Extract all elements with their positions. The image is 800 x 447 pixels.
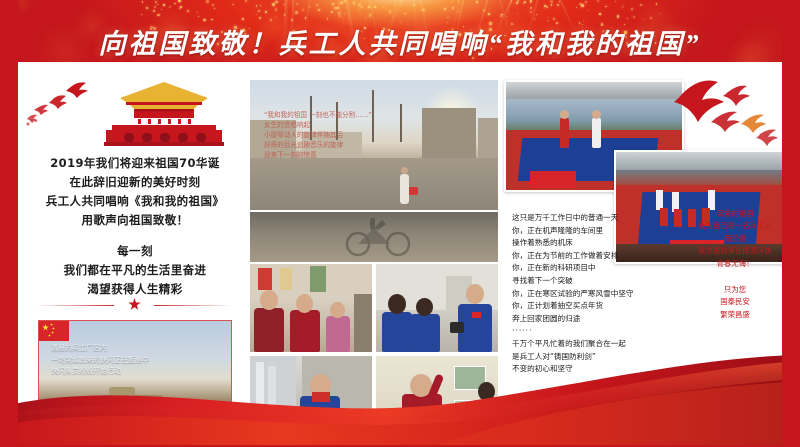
left-column: 2019年我们将迎来祖国70华诞 在此辞旧迎新的美好时刻 兵工人共同唱响《我和我…: [18, 62, 248, 447]
poem-ellipsis: ······: [512, 326, 532, 335]
lead-line-4: 用歌声向祖国致敬！: [81, 213, 188, 227]
hoodie-line-2: 祖国: [402, 420, 442, 426]
lead-line-2: 在此辞旧迎新的美好时刻: [70, 175, 201, 189]
photo-bike-shadow: [250, 212, 498, 262]
poem-line-1: 这只是万千工作日中的普通一天: [512, 213, 618, 222]
dedication-line-5: 青春无悔！: [717, 259, 754, 268]
poem-line-13: 不变的初心和坚守: [512, 364, 573, 373]
poster-root: 向祖国致敬！兵工人共同唱响“我和我的祖国”: [0, 0, 800, 447]
vehicle-graphic: [101, 395, 163, 415]
hoodie-line-1: 我和我的: [402, 412, 442, 418]
star-icon: [128, 298, 141, 311]
overlay-line-3: 快闪队员纷纷开始行动: [51, 367, 121, 375]
dedication-line-4: 我为国防事业挥洒汗水: [698, 246, 772, 255]
photo-elderly-group: [250, 264, 372, 352]
dedication-line-3: 而骄傲: [724, 234, 746, 243]
intro-text-block: 2019年我们将迎来祖国70华诞 在此辞旧迎新的美好时刻 兵工人共同唱响《我和我…: [22, 154, 248, 299]
photo-man-reading: [250, 356, 372, 447]
poster-body: 2019年我们将迎来祖国70华诞 在此辞旧迎新的美好时刻 兵工人共同唱响《我和我…: [18, 62, 782, 447]
doves-right-icon: [672, 72, 782, 152]
poem-line-7: 你，正在寒区试验的严寒风雪中坚守: [512, 289, 634, 298]
poem-line-12: 是兵工人对“铸国防利剑”: [512, 352, 596, 361]
divider-line-left: [36, 305, 114, 306]
dedication-line-6: 只为您: [724, 285, 746, 294]
hall-ceiling: [506, 82, 682, 99]
photo-grid: 我和我的 祖国: [250, 264, 498, 447]
dedication-line-8: 繁荣昌盛: [720, 310, 750, 319]
poem-line-4: 你，正在为节前的工作做着安排: [512, 251, 618, 260]
dedication-wish-block: 只为您 国泰民安 繁荣昌盛: [688, 284, 782, 321]
bike-line-3: 小提琴动人的旋律伴随其后: [264, 131, 343, 139]
center-column: “我和我的祖国 一刻也不能分割……” 女生的沧唱响起 小提琴动人的旋律伴随其后 …: [250, 62, 500, 447]
divider-line-right: [154, 305, 232, 306]
bike-shadow-graphic: [342, 216, 416, 258]
photo-factory-morning: 清晨的兵工厂区内 一场突如其来的快闪正在酝酿中 快闪队员纷纷开始行动: [38, 320, 232, 434]
lead-line-6: 我们都在平凡的生活里奋进: [64, 263, 207, 277]
poem-line-6: 寻找着下一个突破: [512, 276, 573, 285]
cyclist-figure: [400, 174, 409, 204]
photo-overlay-caption: 清晨的兵工厂区内 一场突如其来的快闪正在酝酿中 快闪队员纷纷开始行动: [51, 343, 221, 378]
poster-header: 向祖国致敬！兵工人共同唱响“我和我的祖国”: [0, 0, 800, 62]
floor-flag: [530, 171, 576, 188]
overlay-line-2: 一场突如其来的快闪正在酝酿中: [51, 356, 149, 364]
poem-line-11: 千万个平凡忙着的我们聚合在一起: [512, 339, 626, 348]
dedication-line-1: 亲爱的祖国: [717, 209, 754, 218]
overlay-line-1: 清晨的兵工厂区内: [51, 344, 107, 352]
poem-line-2: 你，正在机声隆隆的车间里: [512, 226, 603, 235]
bike-line-4: 好奇的目光追随音乐的旋律: [264, 141, 343, 149]
lead-line-3: 兵工人共同唱响《我和我的祖国》: [46, 194, 225, 208]
lead-line-7: 渴望获得人生精彩: [87, 282, 182, 296]
photo-two-workers: [376, 264, 498, 352]
border-left: [0, 0, 18, 447]
poem-line-9: 奔上回家团圆的归途: [512, 314, 580, 323]
photo-girl-on-bike: “我和我的祖国 一刻也不能分割……” 女生的沧唱响起 小提琴动人的旋律伴随其后 …: [250, 80, 498, 210]
road-surface: [250, 158, 498, 210]
photo-girl-waving: 我和我的 祖国: [376, 356, 498, 447]
bike-line-1: “我和我的祖国 一刻也不能分割……”: [264, 111, 372, 119]
bike-line-2: 女生的沧唱响起: [264, 121, 310, 129]
bike-line-5: 迎来下一刻的惊喜: [264, 151, 317, 159]
border-right: [782, 0, 800, 447]
tiananmen-gate-icon: [104, 78, 224, 148]
dedication-line-2: 我为自己是一名兵工人: [698, 221, 772, 230]
lead-line-5: 每一刻: [117, 244, 153, 258]
dedication-text-block: 亲爱的祖国 我为自己是一名兵工人 而骄傲 我为国防事业挥洒汗水 青春无悔！ 只为…: [688, 208, 782, 328]
poem-line-8: 你，正计划着抽空买点年货: [512, 301, 603, 310]
lead-line-1: 2019年我们将迎来祖国70华诞: [50, 156, 219, 170]
flag-graphic: [39, 321, 69, 341]
doves-left-icon: [26, 80, 106, 130]
bike-overlay-caption: “我和我的祖国 一刻也不能分割……” 女生的沧唱响起 小提琴动人的旋律伴随其后 …: [264, 110, 444, 160]
dedication-line-7: 国泰民安: [720, 297, 750, 306]
star-divider: [36, 298, 232, 312]
poem-text-block: 这只是万千工作日中的普通一天 你，正在机声隆隆的车间里 操作着熟悉的机床 你，正…: [512, 212, 702, 376]
lead-spacer: [22, 230, 248, 242]
hall-ceiling-b: [616, 152, 782, 170]
tiananmen-graphic: [26, 78, 226, 148]
bike-basket: [408, 187, 418, 195]
page-title: 向祖国致敬！兵工人共同唱响“我和我的祖国”: [0, 22, 800, 61]
poem-line-3: 操作着熟悉的机床: [512, 238, 573, 247]
poem-line-5: 你，正在新的科研项目中: [512, 263, 596, 272]
right-column: 这只是万千工作日中的普通一天 你，正在机声隆隆的车间里 操作着熟悉的机床 你，正…: [502, 62, 782, 447]
